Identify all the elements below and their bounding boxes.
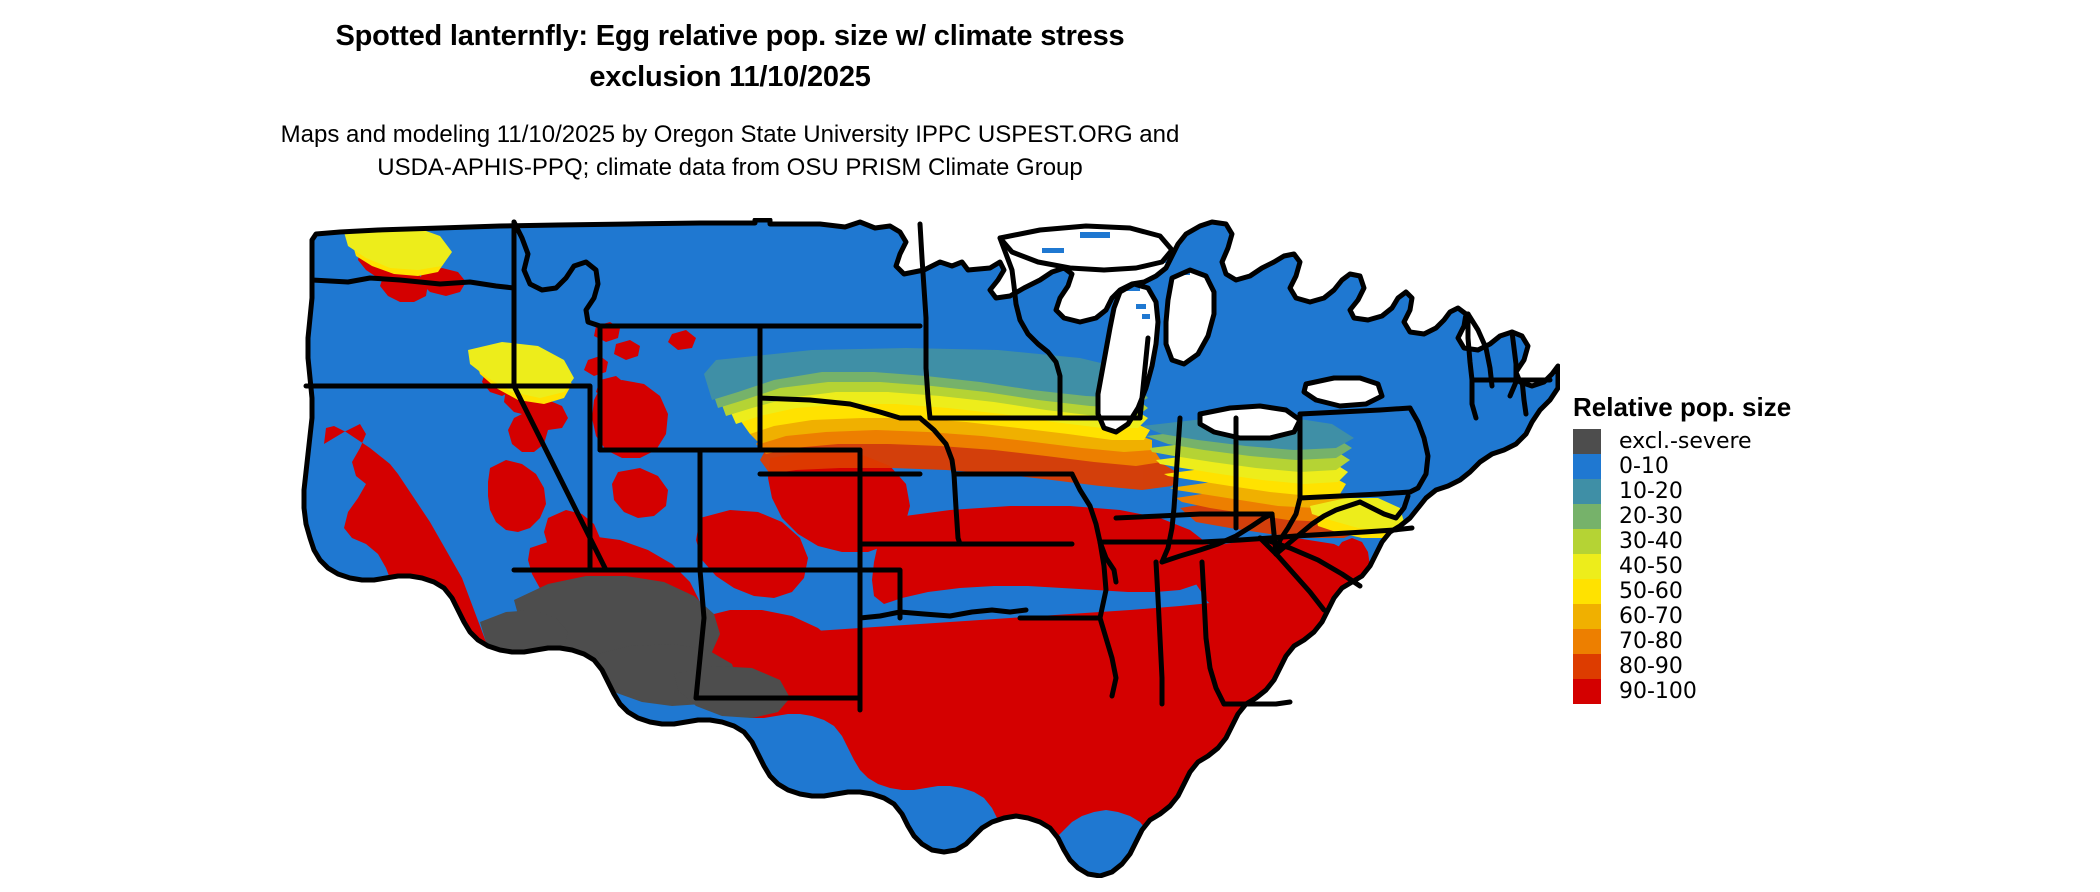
us-choropleth-map xyxy=(300,218,1560,878)
legend-swatch xyxy=(1573,479,1601,504)
legend-swatch xyxy=(1573,454,1601,479)
legend-label: 30-40 xyxy=(1619,529,1683,554)
legend-item: 70-80 xyxy=(1573,629,1873,654)
legend-item: 10-20 xyxy=(1573,479,1873,504)
legend-item: 60-70 xyxy=(1573,604,1873,629)
legend-label: 90-100 xyxy=(1619,679,1697,704)
ga-fl-line xyxy=(1224,702,1290,704)
legend-label: 0-10 xyxy=(1619,454,1669,479)
figure-canvas: Spotted lanternfly: Egg relative pop. si… xyxy=(0,0,2100,892)
legend-label: 40-50 xyxy=(1619,554,1683,579)
legend-swatch xyxy=(1573,629,1601,654)
legend-swatch xyxy=(1573,504,1601,529)
legend-label: 70-80 xyxy=(1619,629,1683,654)
legend-swatch xyxy=(1573,554,1601,579)
legend-swatch xyxy=(1573,679,1601,704)
legend-label: excl.-severe xyxy=(1619,429,1752,454)
legend-item: 50-60 xyxy=(1573,579,1873,604)
chart-subtitle: Maps and modeling 11/10/2025 by Oregon S… xyxy=(0,118,1460,184)
legend-item: 20-30 xyxy=(1573,504,1873,529)
legend-label: 10-20 xyxy=(1619,479,1683,504)
legend-label: 20-30 xyxy=(1619,504,1683,529)
map-legend: Relative pop. size excl.-severe0-1010-20… xyxy=(1573,392,1873,704)
legend-item: 80-90 xyxy=(1573,654,1873,679)
legend-item: 30-40 xyxy=(1573,529,1873,554)
legend-item: 40-50 xyxy=(1573,554,1873,579)
legend-item: 0-10 xyxy=(1573,454,1873,479)
legend-swatch xyxy=(1573,529,1601,554)
legend-swatch xyxy=(1573,429,1601,454)
legend-title: Relative pop. size xyxy=(1573,392,1873,422)
legend-label: 80-90 xyxy=(1619,654,1683,679)
legend-label: 50-60 xyxy=(1619,579,1683,604)
map-svg xyxy=(300,218,1560,878)
title-line-1: Spotted lanternfly: Egg relative pop. si… xyxy=(0,16,1460,57)
legend-label: 60-70 xyxy=(1619,604,1683,629)
subtitle-line-2: USDA-APHIS-PPQ; climate data from OSU PR… xyxy=(0,151,1460,184)
legend-swatch xyxy=(1573,604,1601,629)
title-line-2: exclusion 11/10/2025 xyxy=(0,57,1460,98)
subtitle-line-1: Maps and modeling 11/10/2025 by Oregon S… xyxy=(0,118,1460,151)
legend-swatch xyxy=(1573,579,1601,604)
legend-item: 90-100 xyxy=(1573,679,1873,704)
legend-rows: excl.-severe0-1010-2020-3030-4040-5050-6… xyxy=(1573,429,1873,704)
legend-swatch xyxy=(1573,654,1601,679)
chart-title: Spotted lanternfly: Egg relative pop. si… xyxy=(0,16,1460,98)
legend-item: excl.-severe xyxy=(1573,429,1873,454)
